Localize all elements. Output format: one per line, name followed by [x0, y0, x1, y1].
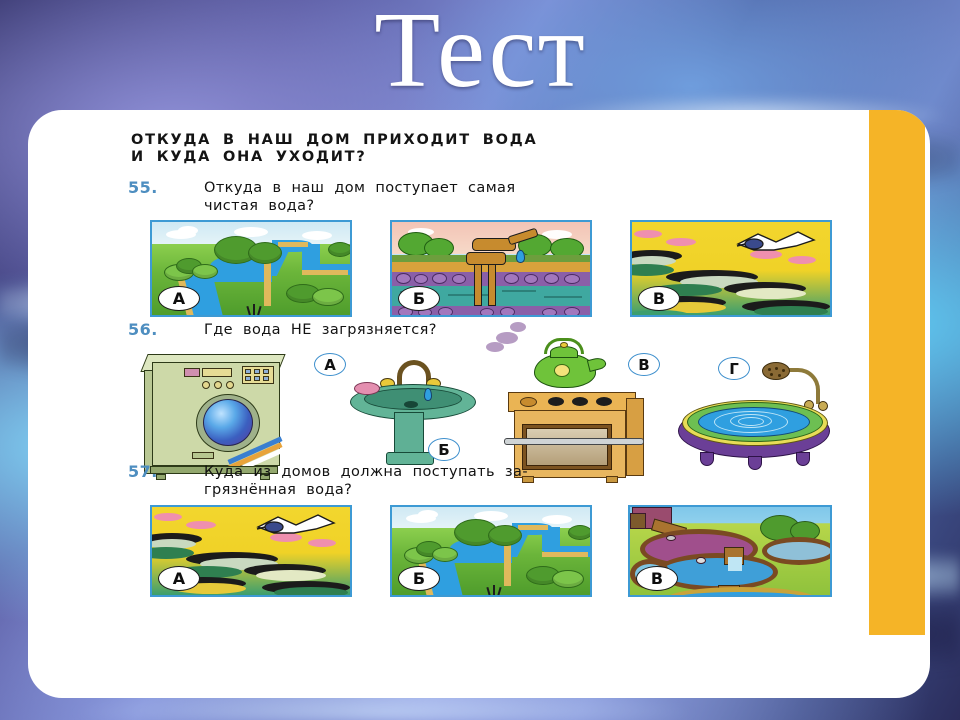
option-letter-badge: Б: [398, 566, 440, 591]
washer-door-glass: [203, 399, 253, 446]
washer-button: [263, 369, 269, 374]
stove-burner: [548, 397, 564, 406]
stove-oven-window: [526, 428, 608, 466]
kettle-knob: [560, 342, 568, 348]
washer-button: [254, 369, 260, 374]
shower-valve: [818, 401, 828, 411]
washer-button: [254, 376, 260, 381]
question-55-number: 55.: [128, 178, 158, 197]
steam-puff: [510, 322, 526, 332]
option-letter-badge: А: [314, 353, 346, 376]
option-56-a-picture[interactable]: [144, 348, 286, 480]
soap-bar: [354, 382, 380, 395]
stove-dial: [520, 397, 537, 407]
water-ripple: [714, 411, 788, 433]
stove-burner: [572, 397, 588, 406]
option-55-b-picture[interactable]: Б: [390, 220, 592, 317]
washer-button: [263, 376, 269, 381]
stove-burner: [596, 397, 612, 406]
option-letter-badge: Б: [398, 286, 440, 311]
washer-indicator: [184, 368, 200, 377]
stove-handle-bar: [504, 438, 644, 445]
sink-pedestal: [394, 412, 424, 456]
option-57-b-picture[interactable]: Б: [390, 505, 592, 597]
slide: Тест ОТКУДА В НАШ ДОМ ПРИХОДИТ ВОДА И КУ…: [0, 0, 960, 720]
orange-accent-bar: [869, 110, 925, 635]
option-letter-badge: В: [636, 566, 678, 591]
washer-knob: [226, 381, 234, 389]
question-56-number: 56.: [128, 320, 158, 339]
option-letter-badge: Б: [428, 438, 460, 461]
question-56-text: Где вода НЕ загрязняется?: [204, 321, 854, 339]
sink-drain: [404, 401, 418, 408]
shower-arm: [786, 368, 820, 404]
option-letter-badge: Г: [718, 357, 750, 380]
kettle: [528, 344, 608, 392]
option-letter-badge: А: [158, 286, 200, 311]
slide-title: Тест: [0, 0, 960, 107]
section-heading: ОТКУДА В НАШ ДОМ ПРИХОДИТ ВОДА И КУДА ОН…: [131, 132, 831, 166]
question-57-text: Куда из домов должна поступать за- грязн…: [204, 463, 850, 499]
option-letter-badge: В: [628, 353, 660, 376]
washer-button: [245, 369, 251, 374]
textbook-sheet: ОТКУДА В НАШ ДОМ ПРИХОДИТ ВОДА И КУДА ОН…: [28, 110, 873, 698]
option-55-a-picture[interactable]: А: [150, 220, 352, 317]
water-drop: [424, 388, 432, 401]
option-letter-badge: А: [158, 566, 200, 591]
textbook-page-card: ОТКУДА В НАШ ДОМ ПРИХОДИТ ВОДА И КУДА ОН…: [28, 110, 930, 698]
option-56-b-picture[interactable]: [350, 360, 480, 470]
question-57-number: 57.: [128, 462, 158, 481]
washer-button: [245, 376, 251, 381]
washer-knob: [202, 381, 210, 389]
option-57-c-picture[interactable]: В: [628, 505, 832, 597]
option-letter-badge: В: [638, 286, 680, 311]
option-57-a-picture[interactable]: А: [150, 505, 352, 597]
option-55-c-picture[interactable]: В: [630, 220, 832, 317]
washer-display: [202, 368, 232, 377]
shower-head-icon: [762, 362, 790, 380]
steam-puff: [486, 342, 504, 352]
question-55-text: Откуда в наш дом поступает самая чистая …: [204, 179, 850, 215]
washer-knob: [214, 381, 222, 389]
kettle-flower-decal: [554, 364, 570, 377]
kettle-spout: [587, 356, 607, 372]
washer-drawer: [192, 452, 214, 459]
